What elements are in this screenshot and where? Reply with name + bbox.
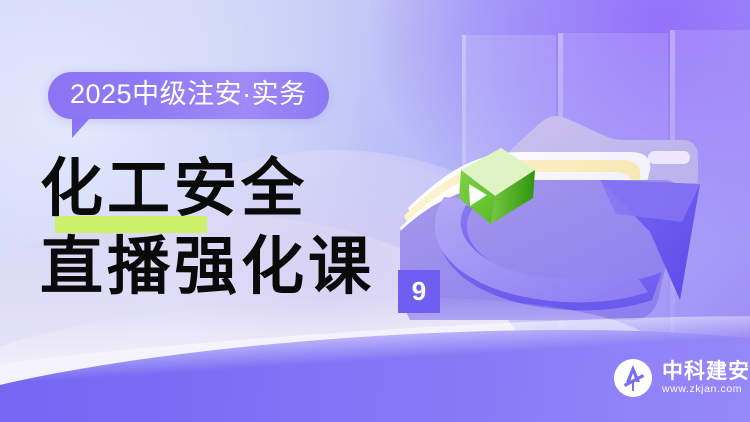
brand-name: 中科建安 — [662, 361, 750, 382]
course-tag-label: 2025中级注安·实务 — [48, 72, 329, 119]
tag-bubble-tail — [72, 119, 89, 138]
headline-line-1: 化工安全 — [40, 152, 470, 226]
brand-logo-text: 中科建安 www.zkjan.com — [662, 361, 750, 395]
brand-logo: 中科建安 www.zkjan.com — [613, 358, 750, 398]
course-promo-banner: 2025中级注安·实务 化工安全 直播强化课 9 中科建安 www.zkjan.… — [0, 0, 750, 422]
episode-badge: 9 — [398, 270, 440, 313]
brand-url: www.zkjan.com — [662, 384, 750, 395]
zkjan-circle-mark-icon — [613, 358, 653, 398]
headline-row-1: 化工安全 — [40, 152, 470, 230]
